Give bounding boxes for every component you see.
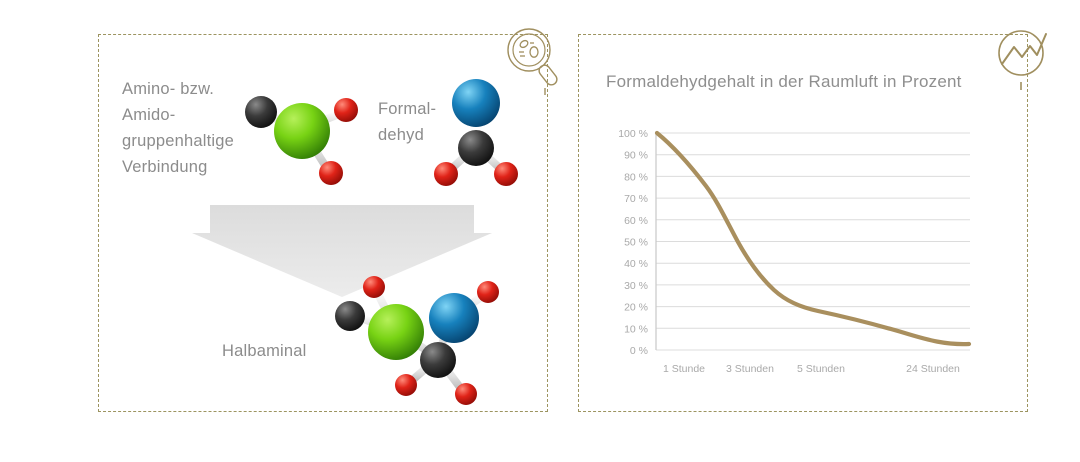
hemiaminal-molecule	[318, 268, 518, 408]
ytick-label: 100 %	[618, 128, 648, 140]
ytick-label: 0 %	[630, 345, 648, 357]
ytick-label: 70 %	[624, 193, 648, 205]
slide-root: Amino- bzw. Amido- gruppenhaltige Verbin…	[0, 0, 1080, 462]
xtick-label: 1 Stunde	[663, 363, 705, 375]
xtick-label: 5 Stunden	[797, 363, 845, 375]
chart-x-tick-labels: 1 Stunde 3 Stunden 5 Stunden 24 Stunden	[663, 363, 960, 375]
chart-data-line	[657, 133, 969, 344]
ytick-label: 60 %	[624, 215, 648, 227]
xtick-label: 3 Stunden	[726, 363, 774, 375]
ytick-label: 10 %	[624, 323, 648, 335]
chart-y-tick-labels: 100 % 90 % 80 % 70 % 60 % 50 % 40 % 30 %…	[618, 128, 648, 357]
xtick-label: 24 Stunden	[906, 363, 960, 375]
ytick-label: 20 %	[624, 302, 648, 314]
formaldehyde-decay-chart: 100 % 90 % 80 % 70 % 60 % 50 % 40 % 30 %…	[578, 34, 1028, 412]
ytick-label: 40 %	[624, 258, 648, 270]
chart-gridlines	[656, 133, 970, 350]
ytick-label: 50 %	[624, 237, 648, 249]
formaldehyde-molecule	[424, 68, 534, 196]
ytick-label: 80 %	[624, 171, 648, 183]
ytick-label: 90 %	[624, 150, 648, 162]
amine-molecule	[236, 82, 376, 197]
ytick-label: 30 %	[624, 280, 648, 292]
